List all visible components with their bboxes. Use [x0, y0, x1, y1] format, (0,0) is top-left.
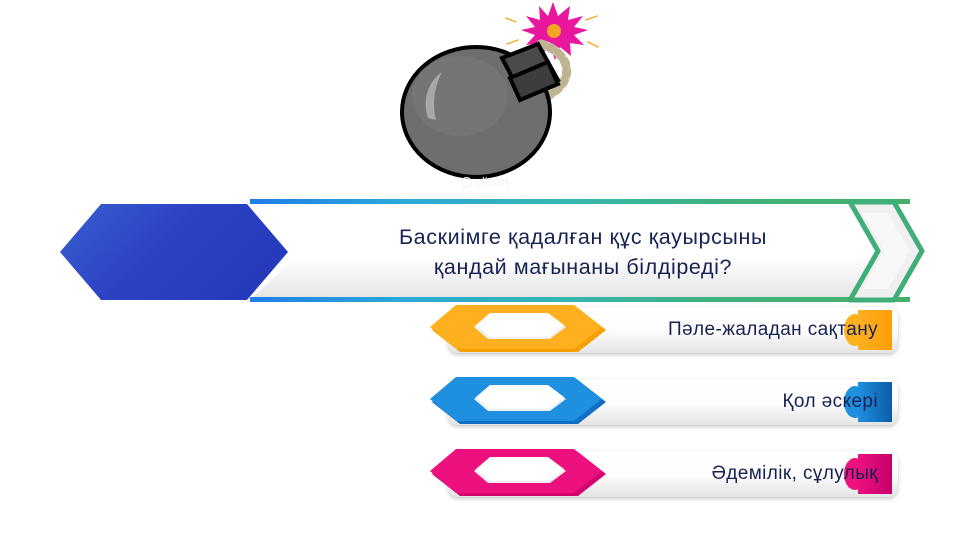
answer-option-1[interactable]: Пәле-жаладан сақтану	[430, 307, 898, 353]
slide-canvas: clipart Баскиімге қадалған құс қауырсыны…	[0, 0, 960, 540]
watermark-ring-icon	[461, 177, 472, 188]
banner-rule-top	[250, 199, 910, 204]
answer-options-list: Пәле-жаладан сақтану Қол әскері	[430, 307, 910, 523]
answer-option-2[interactable]: Қол әскері	[430, 379, 898, 425]
watermark-label: clipart	[476, 176, 509, 188]
answer-hexagon-1	[430, 305, 610, 355]
clipart-watermark: clipart	[430, 172, 540, 192]
answer-label-1: Пәле-жаладан сақтану	[668, 307, 878, 353]
answer-label-3: Әдемілік, сұлулық	[712, 451, 878, 497]
bomb-illustration	[390, 0, 610, 200]
answer-label-2: Қол әскері	[782, 379, 878, 425]
question-text: Баскиімге қадалған құс қауырсыны қандай …	[288, 210, 878, 294]
question-banner: Баскиімге қадалған құс қауырсыны қандай …	[48, 196, 928, 306]
answer-hexagon-3	[430, 449, 610, 499]
question-hexagon-badge	[60, 204, 288, 300]
banner-rule-bottom	[250, 297, 910, 302]
answer-hexagon-2	[430, 377, 610, 427]
answer-option-3[interactable]: Әдемілік, сұлулық	[430, 451, 898, 497]
